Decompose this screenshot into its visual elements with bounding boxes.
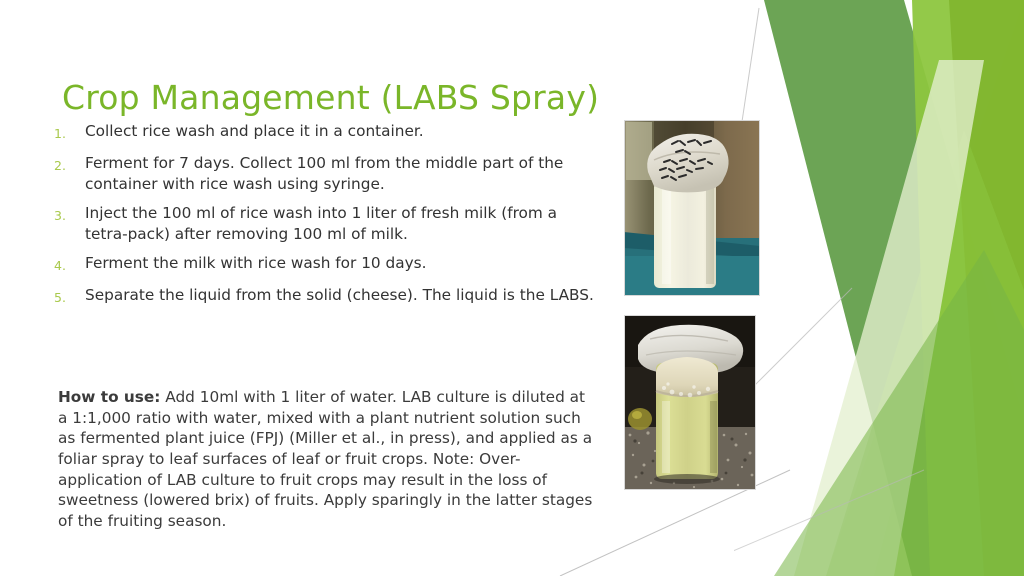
decor-shape-dark bbox=[764, 0, 1024, 576]
decorative-green-shapes bbox=[734, 0, 1024, 576]
photo2-jar-shadow bbox=[710, 401, 717, 473]
decor-shape-lighter-overlay bbox=[794, 60, 984, 576]
decor-shape-light-overlay bbox=[826, 130, 1024, 576]
photo2-fruit-highlight bbox=[632, 411, 642, 419]
photo-rice-wash-jar bbox=[624, 120, 760, 296]
list-item: 3. Inject the 100 ml of rice wash into 1… bbox=[54, 203, 599, 244]
decor-shape-bright bbox=[912, 0, 1024, 576]
photo1-jar-shadow bbox=[706, 186, 714, 284]
list-item: 4. Ferment the milk with rice wash for 1… bbox=[54, 253, 599, 276]
steps-list: 1. Collect rice wash and place it in a c… bbox=[54, 121, 599, 317]
list-item-text: Inject the 100 ml of rice wash into 1 li… bbox=[85, 203, 599, 244]
list-item-number: 2. bbox=[54, 153, 85, 176]
slide-canvas: Crop Management (LABS Spray) 1. Collect … bbox=[0, 0, 1024, 576]
photo2-jar-base-shadow bbox=[654, 474, 720, 484]
photo2-fruit bbox=[628, 408, 652, 430]
decor-shape-pale bbox=[874, 0, 1024, 576]
list-item: 1. Collect rice wash and place it in a c… bbox=[54, 121, 599, 144]
list-item-text: Collect rice wash and place it in a cont… bbox=[85, 121, 599, 142]
how-to-use-label: How to use: bbox=[58, 388, 160, 406]
list-item-text: Separate the liquid from the solid (chee… bbox=[85, 285, 599, 306]
list-item-number: 3. bbox=[54, 203, 85, 226]
list-item: 5. Separate the liquid from the solid (c… bbox=[54, 285, 599, 308]
photo-labs-fermented-jar bbox=[624, 315, 756, 490]
list-item-number: 4. bbox=[54, 253, 85, 276]
decor-shape-tint bbox=[826, 0, 1024, 576]
page-title: Crop Management (LABS Spray) bbox=[62, 78, 599, 118]
decor-hairline-bottom bbox=[734, 470, 924, 576]
list-item-text: Ferment the milk with rice wash for 10 d… bbox=[85, 253, 599, 274]
photo1-jar-highlight bbox=[662, 186, 671, 284]
list-item-text: Ferment for 7 days. Collect 100 ml from … bbox=[85, 153, 599, 194]
list-item: 2. Ferment for 7 days. Collect 100 ml fr… bbox=[54, 153, 599, 194]
decor-shape-bottom-wedge bbox=[774, 250, 1024, 576]
how-to-use-body: Add 10ml with 1 liter of water. LAB cult… bbox=[58, 388, 592, 530]
list-item-number: 1. bbox=[54, 121, 85, 144]
list-item-number: 5. bbox=[54, 285, 85, 308]
photo2-jar-highlight bbox=[662, 401, 670, 473]
decor-shape-bright-2 bbox=[949, 0, 1024, 576]
how-to-use-paragraph: How to use: Add 10ml with 1 liter of wat… bbox=[58, 387, 598, 531]
